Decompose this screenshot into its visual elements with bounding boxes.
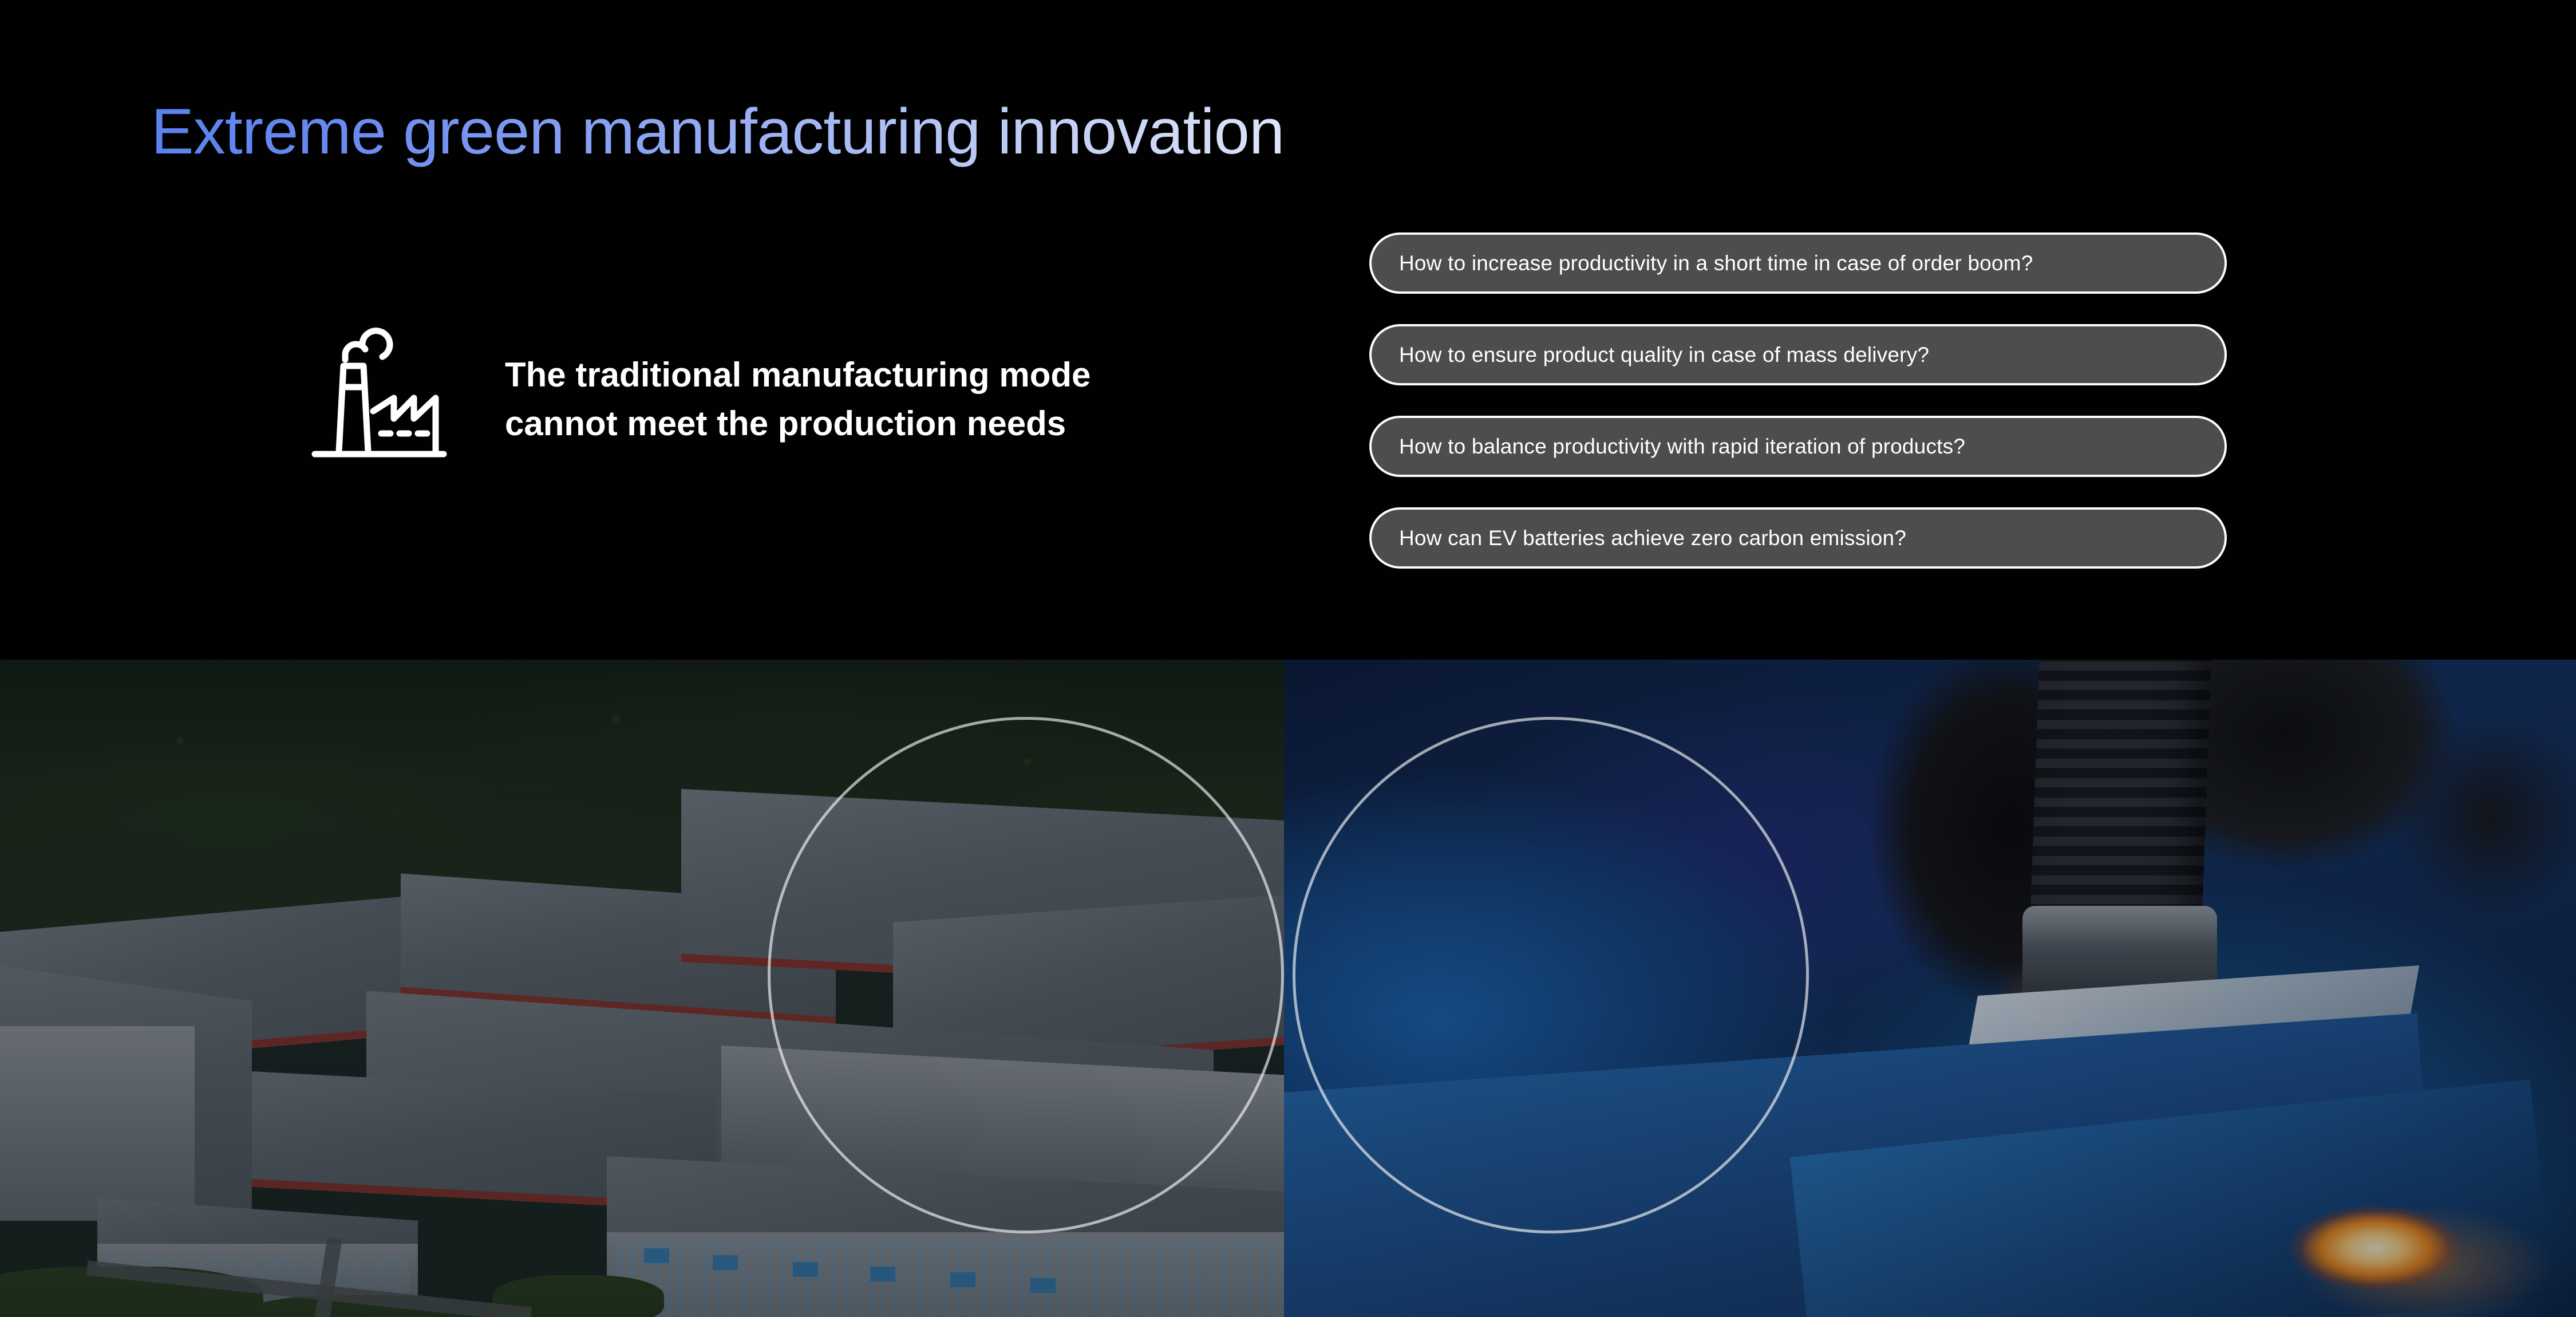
factory-campus-photo <box>0 660 1284 1317</box>
question-pill-4-label: How can EV batteries achieve zero carbon… <box>1372 526 1906 550</box>
statement-text: The traditional manufacturing mode canno… <box>505 350 1272 448</box>
question-pill-4[interactable]: How can EV batteries achieve zero carbon… <box>1369 507 2227 569</box>
question-pill-2[interactable]: How to ensure product quality in case of… <box>1369 324 2227 385</box>
question-pill-1[interactable]: How to increase productivity in a short … <box>1369 232 2227 294</box>
statement-line-1: The traditional manufacturing mode <box>505 350 1272 399</box>
question-pill-list: How to increase productivity in a short … <box>1369 232 2229 569</box>
photo-strip: Supply chain Carbon reductionmanagement … <box>0 660 2576 1317</box>
laser-welding-photo <box>1284 660 2576 1317</box>
photo-dark-overlay <box>1284 660 2576 1317</box>
factory-icon <box>303 312 452 467</box>
question-pill-3-label: How to balance productivity with rapid i… <box>1372 435 1965 459</box>
question-pill-2-label: How to ensure product quality in case of… <box>1372 343 1929 367</box>
top-dark-panel: Extreme green manufacturing innovation T… <box>0 0 2576 660</box>
question-pill-3[interactable]: How to balance productivity with rapid i… <box>1369 416 2227 477</box>
page-title: Extreme green manufacturing innovation <box>151 94 1284 168</box>
photo-dark-overlay <box>0 660 1284 1317</box>
question-pill-1-label: How to increase productivity in a short … <box>1372 251 2033 275</box>
statement-line-2: cannot meet the production needs <box>505 399 1272 448</box>
